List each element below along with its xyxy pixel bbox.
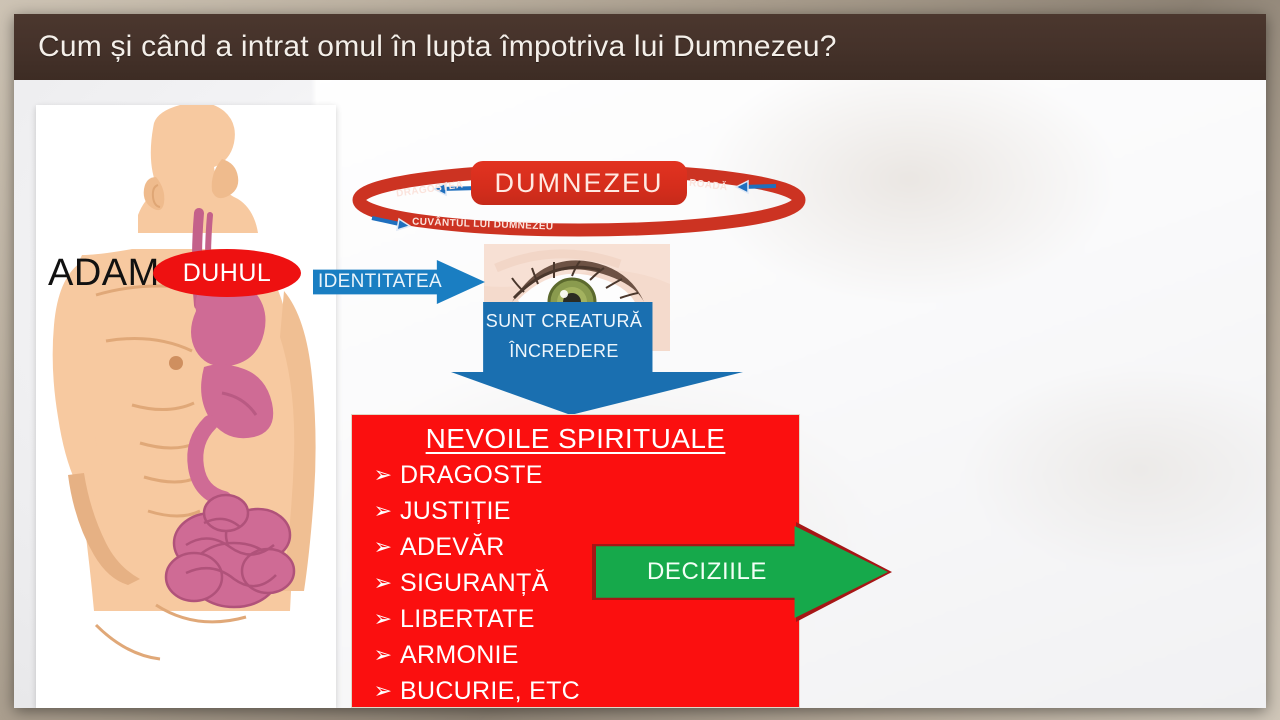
decisions-arrow-label: DECIZIILE xyxy=(622,522,792,622)
list-item-label: SIGURANȚĂ xyxy=(400,565,549,601)
god-center-box: DUMNEZEU xyxy=(471,161,687,205)
god-ring-group: DUMNEZEU DRAGOSTEA ROADĂ CUVÂNTUL LUI DU… xyxy=(344,158,814,238)
list-item-label: BUCURIE, ETC xyxy=(400,673,580,708)
bullet-arrow-icon: ➢ xyxy=(366,457,400,493)
list-item-label: DRAGOSTE xyxy=(400,457,543,493)
bullet-arrow-icon: ➢ xyxy=(366,529,400,565)
god-center-label: DUMNEZEU xyxy=(495,168,664,199)
bullet-arrow-icon: ➢ xyxy=(366,673,400,708)
decisions-arrow: DECIZIILE xyxy=(592,522,892,622)
bullet-arrow-icon: ➢ xyxy=(366,601,400,637)
spiritual-needs-title: NEVOILE SPIRITUALE xyxy=(352,423,799,455)
list-item-label: JUSTIȚIE xyxy=(400,493,511,529)
bullet-arrow-icon: ➢ xyxy=(366,565,400,601)
slide-title-bar: Cum și când a intrat omul în lupta împot… xyxy=(14,14,1266,80)
creature-arrow: SUNT CREATURĂ ÎNCREDERE xyxy=(451,302,743,415)
list-item: ➢ ARMONIE xyxy=(366,637,799,673)
creature-arrow-line2: ÎNCREDERE xyxy=(471,336,657,366)
list-item-label: ADEVĂR xyxy=(400,529,505,565)
list-item: ➢ DRAGOSTE xyxy=(366,457,799,493)
adam-label: ADAM xyxy=(48,252,160,295)
slide: Cum și când a intrat omul în lupta împot… xyxy=(14,14,1266,708)
bullet-arrow-icon: ➢ xyxy=(366,637,400,673)
spirit-badge-label: DUHUL xyxy=(183,259,272,288)
human-body-icon xyxy=(36,105,336,708)
anatomy-figure-panel xyxy=(36,105,336,708)
list-item-label: LIBERTATE xyxy=(400,601,535,637)
page-title: Cum și când a intrat omul în lupta împot… xyxy=(14,30,837,64)
spirit-badge: DUHUL xyxy=(153,249,301,297)
list-item-label: ARMONIE xyxy=(400,637,519,673)
creature-arrow-line1: SUNT CREATURĂ xyxy=(471,306,657,336)
creature-arrow-text: SUNT CREATURĂ ÎNCREDERE xyxy=(471,306,657,366)
identity-arrow: IDENTITATEA xyxy=(313,260,485,304)
list-item: ➢ BUCURIE, ETC xyxy=(366,673,799,708)
identity-arrow-label: IDENTITATEA xyxy=(321,260,439,304)
slide-content: ADAM DUHUL xyxy=(14,80,1266,708)
bullet-arrow-icon: ➢ xyxy=(366,493,400,529)
